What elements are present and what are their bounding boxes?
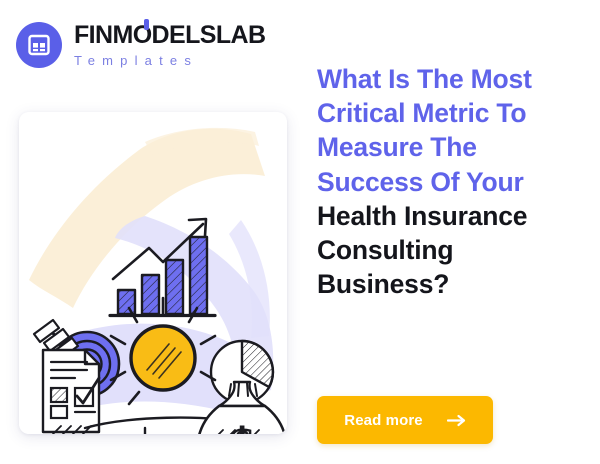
arrow-right-icon <box>447 414 466 427</box>
grid-dashboard-icon <box>16 22 62 68</box>
brand-tagline: Templates <box>74 54 265 67</box>
illustration-card: $ <box>19 112 287 434</box>
headline-subject: Health Insurance Consulting Business? <box>317 199 579 302</box>
headline-question: What Is The Most Critical Metric To Meas… <box>317 62 579 199</box>
read-more-label: Read more <box>344 412 422 429</box>
blog-promo-banner: FINMODELSLAB Templates <box>0 0 600 464</box>
business-analytics-illustration: $ <box>19 112 287 434</box>
power-accent-icon <box>144 19 149 30</box>
read-more-button[interactable]: Read more <box>317 396 493 444</box>
brand-wordmark: FINMODELSLAB Templates <box>74 23 265 67</box>
brand-logo[interactable]: FINMODELSLAB Templates <box>16 22 265 68</box>
headline-block: What Is The Most Critical Metric To Meas… <box>317 62 579 301</box>
brand-name: FINMODELSLAB <box>74 23 265 48</box>
brand-name-text: FINMODELSLAB <box>74 21 265 49</box>
checklist-document <box>43 350 99 432</box>
